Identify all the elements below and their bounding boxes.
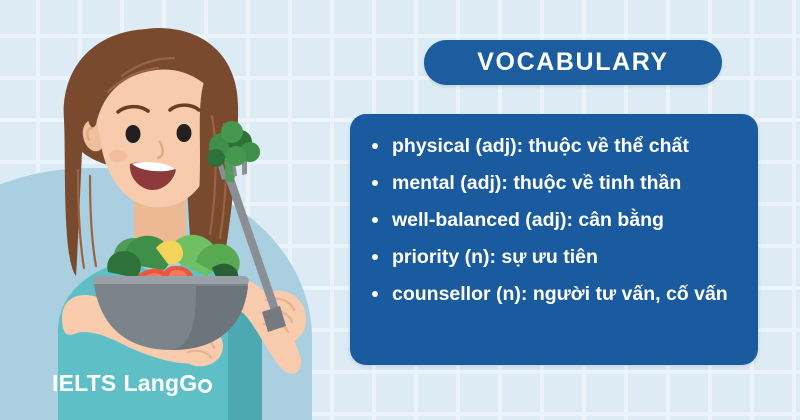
vocabulary-badge-label: VOCABULARY (477, 48, 668, 77)
bowl-rim (93, 276, 249, 284)
vocabulary-slide: VOCABULARY physical (adj): thuộc về thể … (0, 0, 800, 420)
woman-eating-salad-illustration (0, 0, 340, 420)
bullet-icon (372, 180, 378, 186)
bullet-icon (372, 217, 378, 223)
list-item: mental (adj): thuộc về tinh thần (366, 165, 742, 202)
bullet-icon (372, 143, 378, 149)
list-item-text: mental (adj): thuộc về tinh thần (392, 172, 681, 194)
logo-text-secondary: LangG (123, 370, 197, 397)
logo-text-primary: IELTS (52, 370, 116, 397)
ring-o-icon (198, 379, 212, 393)
eye-right (177, 124, 192, 142)
list-item-text: priority (n): sự ưu tiên (392, 246, 598, 268)
vocabulary-panel: physical (adj): thuộc về thể chất mental… (350, 114, 758, 365)
bullet-icon (372, 291, 378, 297)
bullet-icon (372, 254, 378, 260)
list-item: physical (adj): thuộc về thể chất (366, 128, 742, 165)
cheek-blush (109, 150, 127, 162)
list-item: priority (n): sự ưu tiên (366, 239, 742, 276)
list-item: counsellor (n): người tư vấn, cố vấn (366, 276, 742, 313)
list-item-text: well-balanced (adj): cân bằng (392, 209, 664, 231)
brand-logo: IELTS LangG (52, 368, 212, 398)
eye-left (126, 125, 141, 143)
vocabulary-badge: VOCABULARY (424, 40, 722, 85)
vocabulary-list: physical (adj): thuộc về thể chất mental… (366, 128, 742, 313)
list-item-text: counsellor (n): người tư vấn, cố vấn (392, 283, 728, 305)
list-item: well-balanced (adj): cân bằng (366, 202, 742, 239)
list-item-text: physical (adj): thuộc về thể chất (392, 135, 689, 157)
